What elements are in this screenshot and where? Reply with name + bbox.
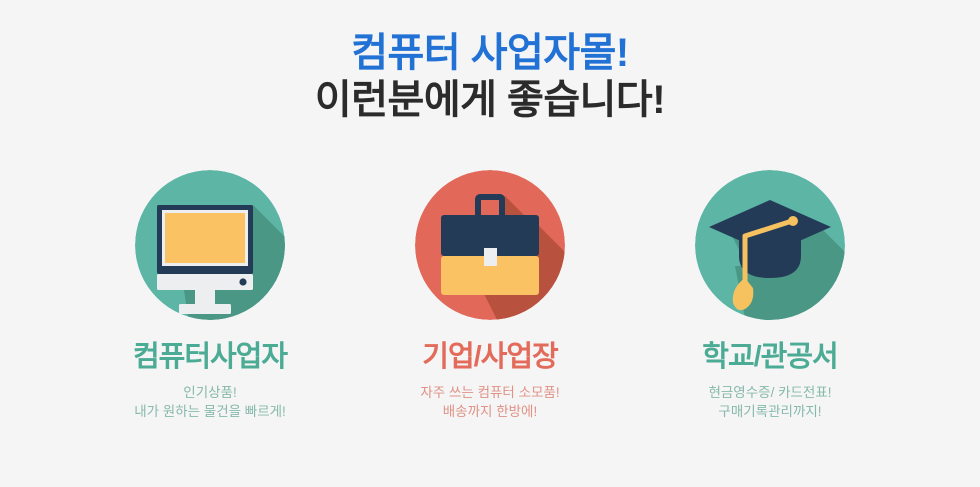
feature-column-school-government[interactable]: 학교/관공서 현금영수증/ 카드전표! 구매기록관리까지! — [630, 170, 910, 422]
feature-subtext-line-2: 내가 원하는 물건을 빠르게! — [134, 402, 286, 422]
feature-subtext-line-1: 인기상품! — [134, 383, 286, 403]
feature-subtext-line-1: 현금영수증/ 카드전표! — [708, 383, 831, 403]
headline-line-2: 이런분에게 좋습니다! — [0, 77, 980, 124]
graduation-cap-icon — [695, 170, 845, 320]
feature-subtext-line-2: 구매기록관리까지! — [708, 402, 831, 422]
desktop-monitor-icon — [135, 170, 285, 320]
headline-line-1: 컴퓨터 사업자몰! — [0, 30, 980, 77]
feature-subtext-line-1: 자주 쓰는 컴퓨터 소모품! — [420, 383, 559, 403]
feature-heading: 학교/관공서 — [702, 342, 837, 374]
feature-column-computer-business[interactable]: 컴퓨터사업자 인기상품! 내가 원하는 물건을 빠르게! — [70, 170, 350, 422]
feature-column-enterprise[interactable]: 기업/사업장 자주 쓰는 컴퓨터 소모품! 배송까지 한방에! — [350, 170, 630, 422]
feature-columns: 컴퓨터사업자 인기상품! 내가 원하는 물건을 빠르게! — [0, 170, 980, 422]
feature-subtext: 인기상품! 내가 원하는 물건을 빠르게! — [134, 383, 286, 422]
feature-subtext-line-2: 배송까지 한방에! — [420, 402, 559, 422]
banner-headline: 컴퓨터 사업자몰! 이런분에게 좋습니다! — [0, 30, 980, 124]
feature-heading: 컴퓨터사업자 — [133, 342, 287, 374]
feature-heading: 기업/사업장 — [422, 342, 557, 374]
briefcase-icon — [415, 170, 565, 320]
promo-banner: 컴퓨터 사업자몰! 이런분에게 좋습니다! — [0, 0, 980, 487]
feature-subtext: 현금영수증/ 카드전표! 구매기록관리까지! — [708, 383, 831, 422]
feature-subtext: 자주 쓰는 컴퓨터 소모품! 배송까지 한방에! — [420, 383, 559, 422]
